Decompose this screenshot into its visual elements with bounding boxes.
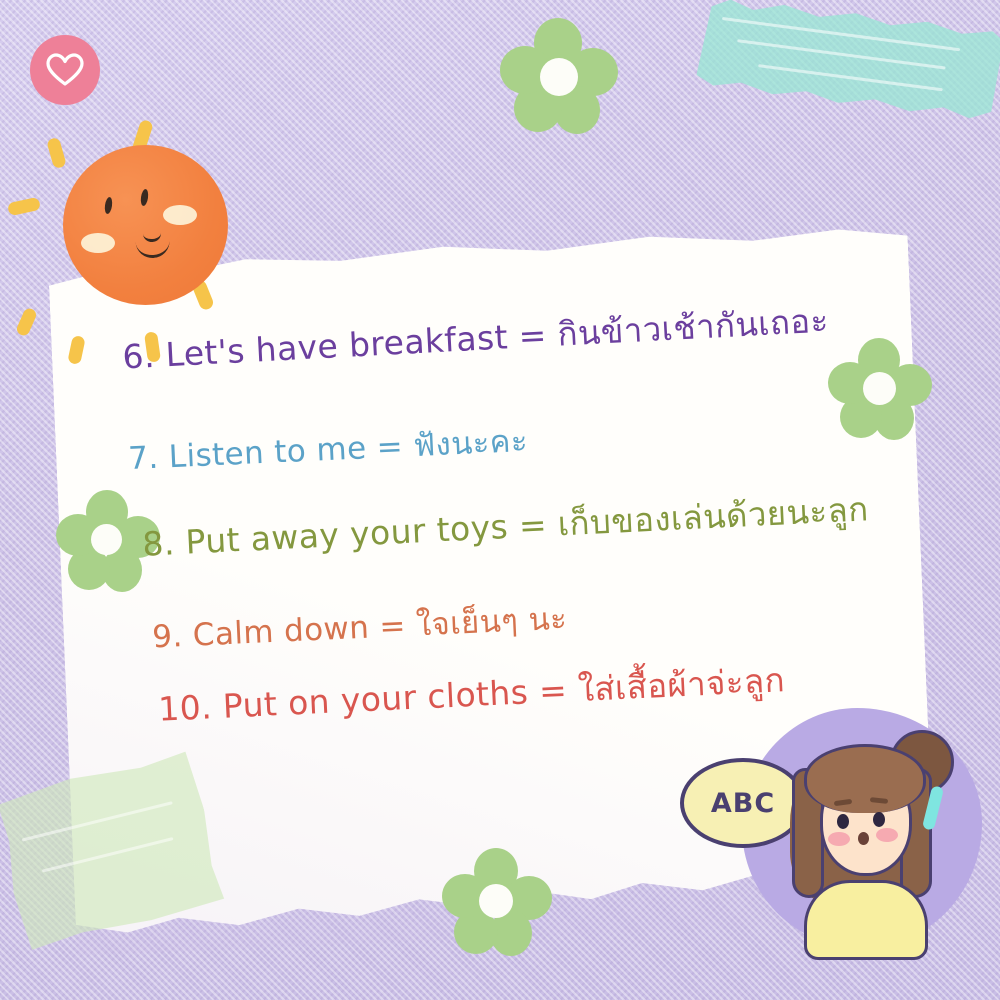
- sun-ray: [67, 335, 86, 365]
- heart-outline-icon: [45, 52, 85, 88]
- sun-ray: [46, 137, 67, 169]
- sun-doodle: [8, 120, 278, 370]
- eye-right: [873, 812, 885, 827]
- eye-left: [837, 814, 849, 829]
- phrase-line-10: 10. Put on your cloths = ใส่เสื้อผ้าจ่ะล…: [157, 653, 786, 735]
- blush-left: [828, 832, 850, 846]
- mouth: [858, 832, 869, 845]
- hair-fringe: [804, 744, 926, 813]
- phrase-line-8: 8. Put away your toys = เก็บของเล่นด้วยน…: [141, 482, 870, 570]
- speech-bubble-text: ABC: [684, 762, 802, 844]
- sun-cheek-left: [81, 233, 115, 253]
- poster-canvas: 6. Let's have breakfast = กินข้าวเช้ากัน…: [0, 0, 1000, 1000]
- sun-eye-left: [104, 197, 113, 215]
- heart-badge[interactable]: [30, 35, 100, 105]
- sun-ray: [15, 307, 38, 338]
- shirt: [804, 880, 928, 960]
- sun-cheek-right: [163, 205, 197, 225]
- speech-bubble: ABC: [680, 758, 806, 848]
- sun-ray: [144, 331, 161, 363]
- girl-avatar[interactable]: ABC: [742, 708, 982, 948]
- phrase-line-9: 9. Calm down = ใจเย็นๆ นะ: [151, 593, 568, 662]
- sun-ray: [7, 197, 41, 216]
- sun-eye-right: [140, 189, 149, 207]
- blush-right: [876, 828, 898, 842]
- phrase-line-7: 7. Listen to me = ฟังนะคะ: [127, 415, 529, 483]
